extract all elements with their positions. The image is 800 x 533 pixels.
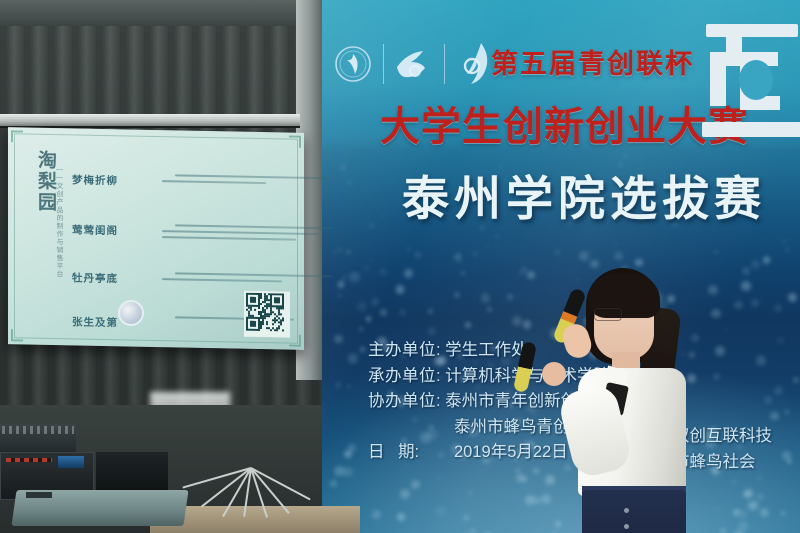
qr-code bbox=[244, 291, 290, 338]
emblem-badge bbox=[118, 300, 144, 326]
tripod bbox=[196, 468, 316, 532]
glasses bbox=[594, 308, 622, 321]
slide-section: 张生及第 bbox=[72, 314, 118, 330]
slide-corner-ornament bbox=[289, 136, 301, 148]
banner-subtitle: 泰州学院选拔赛 bbox=[402, 160, 766, 229]
projector-vent bbox=[26, 492, 52, 498]
organizer-label: 承办单位: bbox=[368, 364, 441, 390]
slide-section-heading: 梦梅折柳 bbox=[72, 172, 118, 188]
slide-section-heading: 张生及第 bbox=[72, 314, 118, 330]
youth-league-emblem-icon bbox=[391, 38, 437, 90]
slide-corner-ornament bbox=[289, 335, 301, 347]
hand bbox=[542, 362, 566, 386]
skirt-button bbox=[624, 508, 629, 513]
slide-corner-ornament bbox=[11, 130, 23, 142]
slide-corner-ornament bbox=[11, 329, 23, 341]
slide-section-heading: 莺莺闺阁 bbox=[72, 222, 118, 238]
rack-display bbox=[58, 456, 84, 468]
projection-screen-bar bbox=[0, 114, 300, 128]
slide-text-line bbox=[162, 180, 266, 184]
slide-subtitle: ——文创产品的制作与销售平台 bbox=[54, 166, 64, 278]
tripod-leg bbox=[250, 467, 290, 514]
rack-led-strip bbox=[6, 458, 52, 462]
slide-section-heading: 牡丹亭底 bbox=[72, 270, 118, 286]
banner-headline-small: 第五届青创联杯 bbox=[491, 42, 694, 81]
university-emblem-icon bbox=[330, 38, 376, 90]
slide-section: 梦梅折柳 bbox=[72, 172, 118, 188]
photo-scene: 第五届青创联杯 大学生创新创业大赛 泰州学院选拔赛 主办单位: 学生工作处 承办… bbox=[0, 0, 800, 533]
slide-text-line bbox=[162, 278, 282, 283]
organizer-label: 主办单位: bbox=[368, 338, 441, 364]
big-character-hu bbox=[696, 18, 800, 144]
slide-text-line bbox=[162, 230, 318, 235]
slide-section: 牡丹亭底 bbox=[72, 270, 118, 286]
organizer-label: 协办单位: bbox=[368, 389, 441, 415]
banner-headline-large: 大学生创新创业大赛 bbox=[380, 94, 749, 152]
slide-section: 莺莺闺阁 bbox=[72, 222, 118, 238]
denim-skirt bbox=[582, 490, 686, 533]
ceiling bbox=[0, 0, 340, 26]
logo-divider bbox=[383, 44, 384, 84]
logo-row bbox=[330, 38, 498, 90]
slide-title: 淘梨园 bbox=[22, 149, 56, 213]
projection-screen: 淘梨园 ——文创产品的制作与销售平台 梦梅折柳 莺莺闺阁 牡丹亭底 张生及第 bbox=[8, 127, 304, 350]
date-label-1: 日 bbox=[368, 440, 398, 466]
logo-divider bbox=[444, 44, 445, 84]
slide-text-line bbox=[162, 236, 296, 241]
skirt-button bbox=[624, 524, 629, 529]
date-label-2: 期: bbox=[398, 440, 454, 466]
slide-section-body bbox=[162, 224, 330, 245]
speaker bbox=[520, 268, 710, 533]
mixer-knobs bbox=[2, 426, 74, 434]
organizer-value: 学生工作处 bbox=[445, 338, 528, 364]
